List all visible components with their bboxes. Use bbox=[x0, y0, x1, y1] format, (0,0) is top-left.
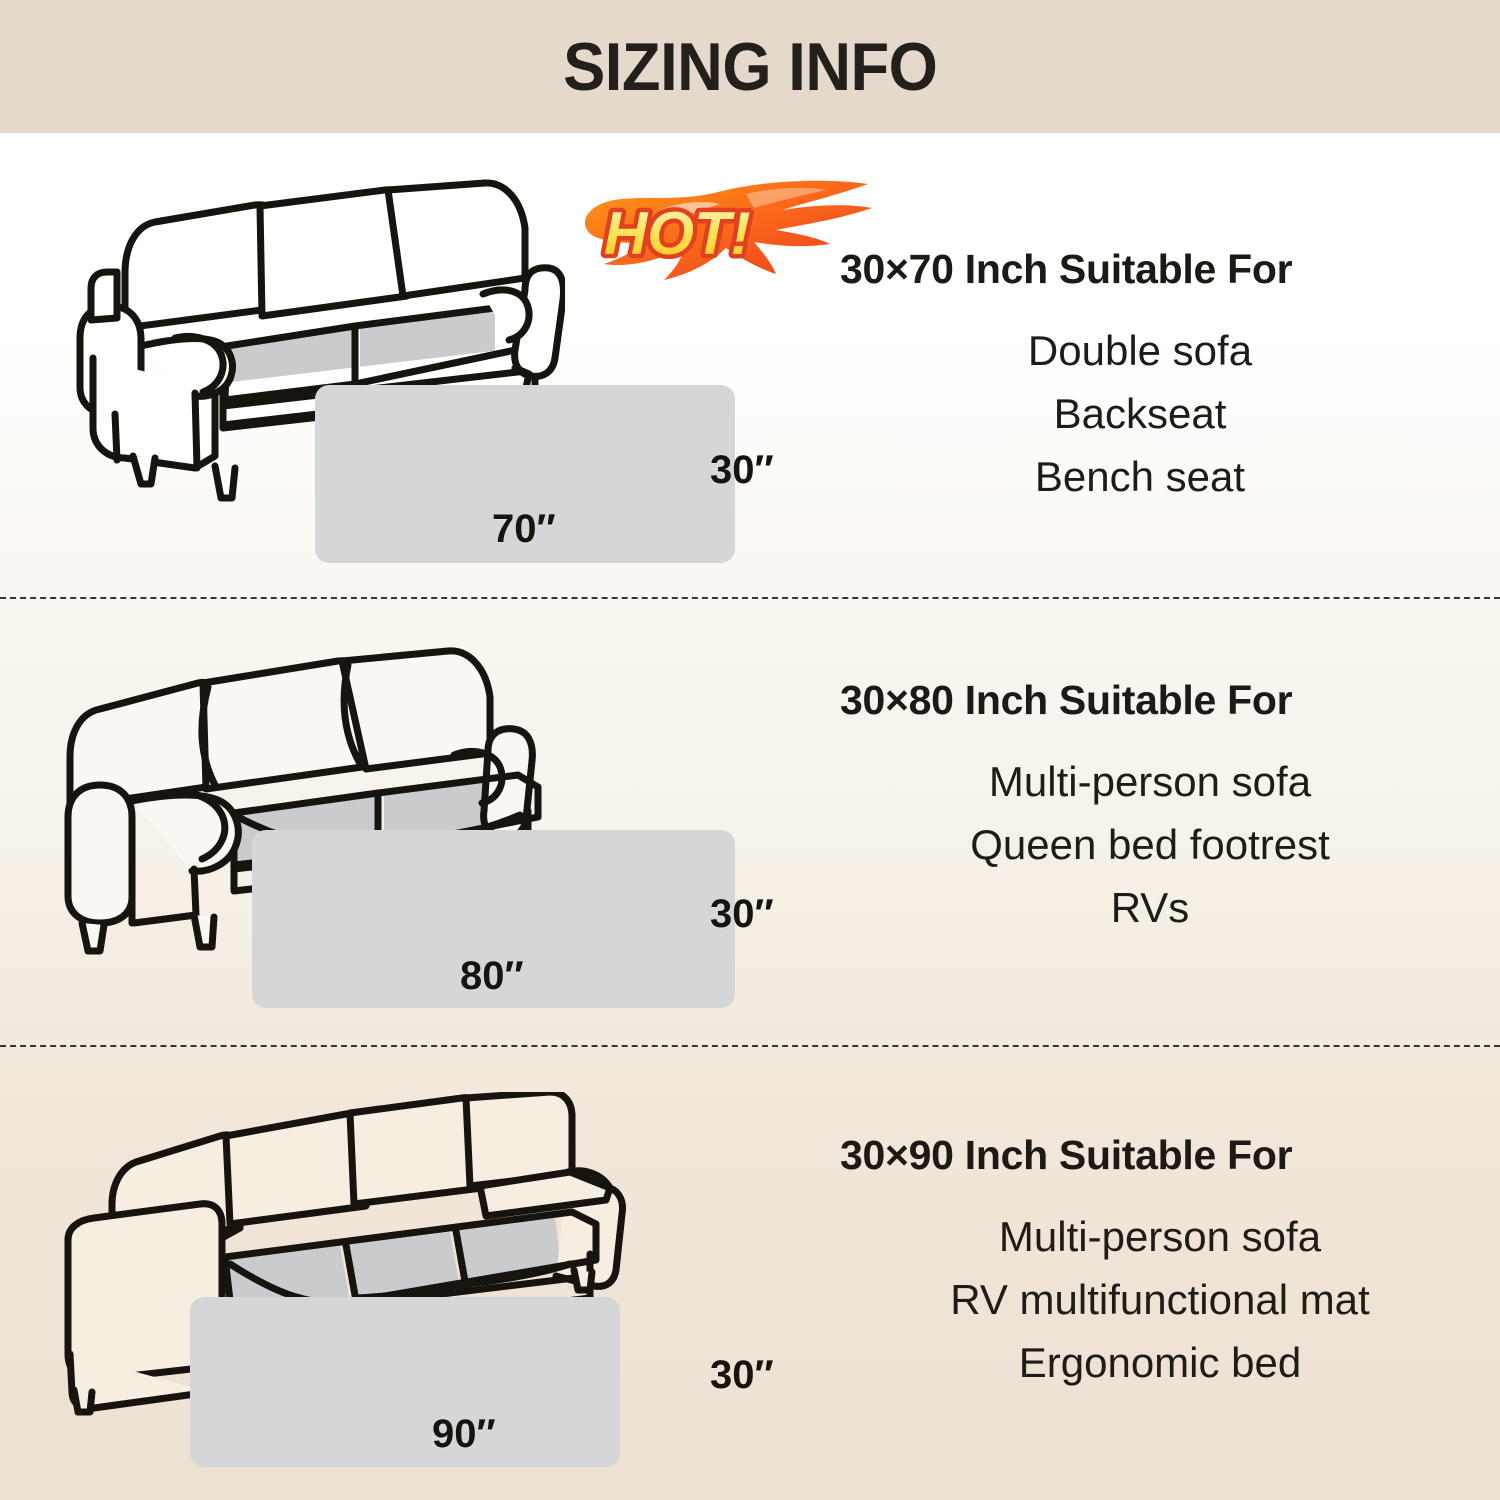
list-item: Queen bed footrest bbox=[840, 813, 1460, 876]
hot-badge-text: HOT! bbox=[604, 200, 751, 267]
dimension-rect-30x90 bbox=[190, 1297, 620, 1467]
size-section-30x80: 80″ 30″ 30×80 Inch Suitable For Multi-pe… bbox=[0, 599, 1500, 1045]
section-heading-30x90: 30×90 Inch Suitable For bbox=[840, 1132, 1480, 1179]
width-label-70: 70″ bbox=[492, 507, 556, 552]
sizing-info-infographic: SIZING INFO bbox=[0, 0, 1500, 1500]
size-section-30x70: HOT! HOT! 70″ 30″ 30×70 Inch Suitable Fo… bbox=[0, 133, 1500, 597]
suitable-for-list-30x90: Multi-person sofa RV multifunctional mat… bbox=[840, 1205, 1480, 1394]
suitable-for-list-30x70: Double sofa Backseat Bench seat bbox=[840, 319, 1440, 508]
page-title: SIZING INFO bbox=[563, 28, 937, 106]
list-item: RV multifunctional mat bbox=[840, 1268, 1480, 1331]
info-column-30x80: 30×80 Inch Suitable For Multi-person sof… bbox=[840, 677, 1460, 939]
list-item: Backseat bbox=[840, 382, 1440, 445]
height-label-30: 30″ bbox=[710, 892, 774, 937]
list-item: Bench seat bbox=[840, 445, 1440, 508]
height-label-30: 30″ bbox=[710, 448, 774, 493]
width-label-80: 80″ bbox=[460, 954, 524, 999]
section-heading-30x80: 30×80 Inch Suitable For bbox=[840, 677, 1460, 724]
section-heading-30x70: 30×70 Inch Suitable For bbox=[840, 246, 1440, 293]
header-banner: SIZING INFO bbox=[0, 0, 1500, 133]
height-label-30: 30″ bbox=[710, 1353, 774, 1398]
info-column-30x90: 30×90 Inch Suitable For Multi-person sof… bbox=[840, 1132, 1480, 1394]
width-label-90: 90″ bbox=[432, 1412, 496, 1457]
list-item: Ergonomic bed bbox=[840, 1331, 1480, 1394]
info-column-30x70: 30×70 Inch Suitable For Double sofa Back… bbox=[840, 246, 1440, 508]
suitable-for-list-30x80: Multi-person sofa Queen bed footrest RVs bbox=[840, 750, 1460, 939]
list-item: Double sofa bbox=[840, 319, 1440, 382]
list-item: Multi-person sofa bbox=[840, 1205, 1480, 1268]
size-section-30x90: 90″ 30″ 30×90 Inch Suitable For Multi-pe… bbox=[0, 1047, 1500, 1500]
list-item: RVs bbox=[840, 876, 1460, 939]
list-item: Multi-person sofa bbox=[840, 750, 1460, 813]
